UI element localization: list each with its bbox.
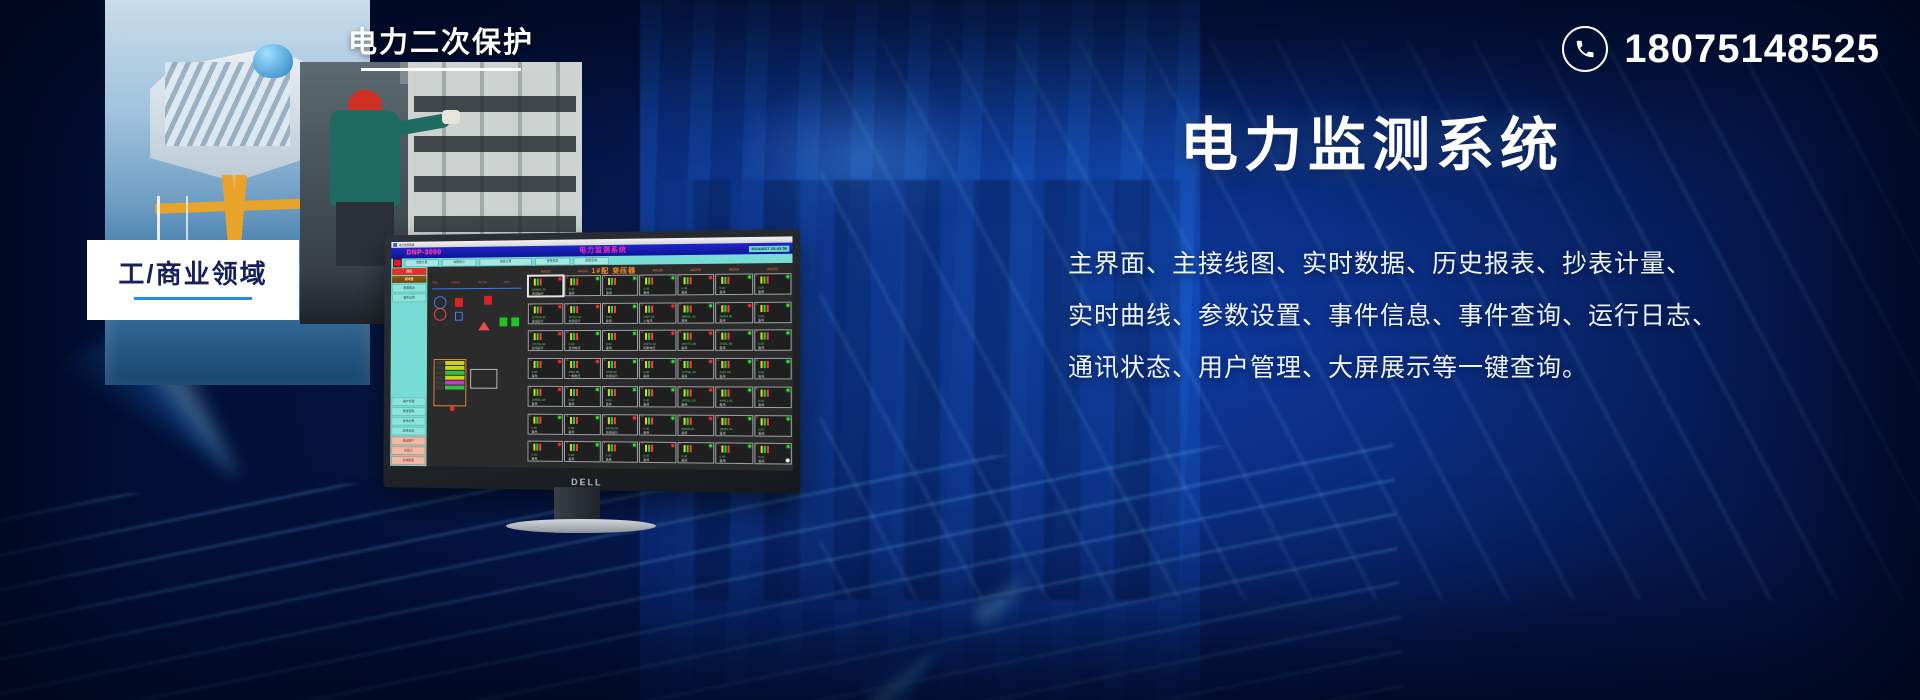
status-led-green	[786, 303, 789, 306]
feeder-cell-status: 备用	[681, 403, 687, 406]
status-led-green	[596, 277, 599, 280]
status-led-green	[671, 416, 674, 419]
sidebar-item-high-voltage[interactable]: 高压	[392, 268, 426, 275]
feeder-cell-status: 小电流	[643, 319, 652, 322]
feeder-cell-index: 4	[530, 359, 532, 362]
col-tag: AA104	[602, 270, 638, 274]
status-led-red	[709, 276, 712, 279]
alarm-indicator	[450, 406, 455, 411]
feeder-cell-status: 备用	[758, 319, 764, 322]
feeder-cell[interactable]: 22907.20小电流	[639, 302, 676, 323]
feeder-cell-status: 备用	[681, 291, 687, 294]
feeder-cell-index: 4	[756, 359, 758, 362]
tab-alarm-query[interactable]: 报警查询	[573, 256, 609, 264]
scada-system-title: 电力监测系统	[579, 247, 627, 255]
scada-window-title: 电力监测系统	[399, 243, 414, 246]
status-led-red	[559, 333, 562, 336]
scada-brand: DNP-3000	[406, 249, 441, 256]
panel-value	[445, 381, 464, 385]
feeder-cell-status: 备用	[681, 319, 687, 322]
feeder-cell-index: 4	[567, 359, 569, 362]
feeder-cell-index: 3	[567, 331, 569, 334]
feeder-cell[interactable]: 10.00备用	[715, 273, 752, 295]
col-tag: AA204	[715, 268, 752, 272]
scada-application: 电力监测系统 DNP-3000 电力监测系统 2024/8/27 10:43:5…	[390, 236, 793, 470]
feeder-cell-index: 1	[717, 275, 719, 278]
col-tag: AA102	[528, 270, 564, 274]
status-led-red	[709, 388, 712, 391]
sidebar-item-system-config[interactable]: 系统配置	[391, 456, 425, 465]
description-line-1: 主界面、主接线图、实时数据、历史报表、抄表计量、	[1068, 238, 1848, 290]
stop-button[interactable]	[393, 258, 402, 267]
feeder-cell[interactable]: 218500L.41备用	[677, 302, 714, 323]
sidebar-item-data-report[interactable]: 数据报表	[392, 284, 426, 293]
breaker-open-2[interactable]	[511, 317, 519, 326]
status-led-green	[633, 444, 636, 447]
status-led-green	[786, 332, 789, 335]
phase-bars	[760, 276, 768, 283]
col-tag: AA205	[677, 269, 714, 273]
status-led-red	[709, 332, 712, 335]
feeder-cell-index: 1	[530, 277, 532, 280]
feeder-cell[interactable]: 40.00备用	[754, 358, 792, 380]
sld-tag-tm1: TM1	[432, 282, 438, 285]
feeder-cell[interactable]: 30.00监测电流	[565, 330, 601, 351]
busbar	[432, 288, 521, 290]
feeder-cell[interactable]: 628740.00合闸运行	[602, 414, 639, 435]
status-led-green	[787, 388, 790, 391]
feeder-cell-index: 2	[679, 303, 681, 306]
sidebar-item-comm-status[interactable]: 通讯状态	[391, 427, 425, 436]
badge-power-secondary-protection: 电力二次保护	[300, 14, 582, 86]
breaker-closed-2[interactable]	[484, 296, 492, 305]
feeder-cell-index: 7	[641, 443, 643, 446]
feeder-cell[interactable]: 3271794.41合闸运行	[528, 331, 564, 352]
sld-tag-aa101: AA101	[451, 281, 460, 284]
feeder-cell-status: 备用	[719, 319, 725, 322]
status-led-green	[748, 445, 751, 448]
status-led-red	[559, 277, 562, 280]
worker-helmet	[348, 90, 382, 112]
feeder-cell[interactable]: 40.00备用	[528, 358, 564, 379]
feeder-cell-status: 备用	[532, 403, 538, 406]
sidebar-item-user-management[interactable]: 用户管理	[391, 397, 425, 406]
phase-bars	[683, 389, 691, 396]
feeder-cell-status: 备用	[643, 459, 649, 462]
feeder-cell[interactable]: 40.00备用	[639, 358, 676, 379]
feeder-cell-status: 备用	[568, 458, 574, 461]
banner-stage: 电力二次保护 工/商业领域 电力监测系统 DNP-3000 电力监测系统	[0, 0, 1920, 700]
feeder-cell-status: 备用	[758, 291, 764, 294]
feeder-cell[interactable]: 2167026.35合闸运行	[528, 303, 564, 324]
feeder-cell-index: 6	[717, 415, 719, 418]
feeder-cell-index: 7	[679, 443, 681, 446]
feeder-cell-status: 一相电压	[569, 375, 581, 378]
phase-bars	[760, 389, 768, 396]
sidebar-item-logout[interactable]: 退出账户	[391, 436, 425, 445]
status-led-green	[787, 417, 790, 420]
feeder-cell-index: 6	[679, 415, 681, 418]
feeder-cell-index: 5	[604, 387, 606, 390]
status-led-red	[559, 360, 562, 363]
phase-bars	[608, 361, 616, 368]
scada-diagram-area: 1#配 变压器 TM1 AA101 AC101 AA1	[426, 263, 793, 471]
feeder-cell-status: 备用	[720, 460, 726, 463]
status-led-green	[748, 388, 751, 391]
feeder-cell-status: 备用	[606, 403, 612, 406]
panel-key	[436, 366, 445, 370]
feeder-cell-status: 合闸运行	[532, 320, 544, 323]
feeder-cell-status: 备用	[606, 347, 612, 350]
feeder-cell[interactable]: 70.00备用	[527, 441, 563, 462]
feeder-cell[interactable]: 30.00备用	[754, 330, 792, 352]
tab-energy-stats[interactable]: 电能统计	[442, 258, 477, 266]
panel-key	[435, 376, 444, 380]
feeder-cell[interactable]: 10.00备用	[754, 273, 792, 295]
panel-value	[445, 366, 464, 370]
feeder-cell[interactable]: 412750L.00备用	[677, 358, 714, 379]
feeder-cell-index: 7	[604, 443, 606, 446]
status-led-red	[671, 304, 674, 307]
feeder-cell-status: 合闸运行	[606, 375, 618, 378]
feeder-cell[interactable]: 162560L.60合闸运行	[528, 275, 564, 296]
scada-sidebar[interactable]: 高压 配电室 数据报表 事件记录 用户管理 修改密码 操作记录 通讯状态 退出账…	[390, 267, 427, 466]
phase-bars	[683, 305, 691, 312]
phase-bars	[760, 305, 768, 312]
feeder-cell-index: 4	[679, 359, 681, 362]
phase-bars	[645, 278, 653, 285]
status-led-red	[596, 305, 599, 308]
feeder-cell-index: 7	[756, 444, 758, 447]
feeder-cell-status: 备用	[643, 403, 649, 406]
feeder-cell-status: 备用	[719, 291, 725, 294]
status-led-green	[633, 304, 636, 307]
feeder-cell[interactable]: 50.00备用	[639, 386, 676, 407]
phase-bars	[533, 416, 541, 423]
feeder-cell-status: 备用	[681, 460, 687, 463]
feeder-cell-index: 5	[530, 387, 532, 390]
panel-key	[436, 361, 445, 365]
feeder-cell-index: 4	[604, 359, 606, 362]
phase-bars	[608, 417, 616, 424]
monitor-power-led	[786, 458, 790, 462]
feeder-cell-status: 备用	[532, 375, 538, 378]
feeder-cell-status: 备用	[569, 292, 575, 295]
panel-row	[436, 371, 465, 375]
feeder-cell-status: 备用	[681, 347, 687, 350]
description-line-3: 通讯状态、用户管理、大屏展示等一键查询。	[1068, 342, 1848, 394]
status-led-green	[709, 445, 712, 448]
phase-bars	[645, 305, 653, 312]
status-led-green	[596, 388, 599, 391]
feeder-cell-index: 3	[604, 331, 606, 334]
panel-row	[435, 381, 464, 385]
status-led-green	[596, 416, 599, 419]
feeder-cell-status: 备用	[719, 375, 725, 378]
feeder-cell-status: 备用	[531, 458, 537, 461]
phase-bars	[534, 334, 542, 341]
feeder-cell-index: 2	[756, 303, 758, 306]
feeder-cell-index: 7	[566, 442, 568, 445]
phase-bars	[760, 333, 768, 340]
status-led-green	[559, 415, 562, 418]
status-led-red	[596, 360, 599, 363]
feeder-cell[interactable]: 10.00备用	[677, 274, 714, 296]
feeder-cell-status: 备用	[568, 403, 574, 406]
feeder-cell[interactable]: 60.00备用	[564, 413, 600, 434]
breaker-closed-1[interactable]	[455, 298, 463, 307]
status-led-green	[748, 276, 751, 279]
feeder-cell[interactable]: 50.00备用	[602, 386, 639, 407]
feeder-cell-index: 3	[756, 331, 758, 334]
feeder-cell-index: 5	[717, 387, 719, 390]
panel-row	[435, 376, 464, 380]
phase-bars	[571, 333, 579, 340]
feeder-cell-index: 5	[756, 387, 758, 390]
status-led-green	[787, 445, 790, 448]
feeder-cell-status: 备用	[643, 375, 649, 378]
feeder-cell-index: 3	[717, 331, 719, 334]
feeder-cell-index: 5	[679, 387, 681, 390]
tab-alarm-type[interactable]: 报警类型	[535, 257, 570, 265]
feeder-cell[interactable]: 514400L.00备用	[528, 386, 564, 407]
status-led-red	[559, 305, 562, 308]
feeder-cell[interactable]: 10.00备用	[602, 275, 638, 296]
status-led-green	[671, 276, 674, 279]
platform-dome	[253, 44, 293, 78]
feeder-cell-index: 4	[641, 359, 643, 362]
feeder-cell-index: 2	[717, 303, 719, 306]
feeder-cell-index: 5	[641, 387, 643, 390]
panel-key	[436, 371, 445, 375]
phase-bars	[645, 361, 653, 368]
feeder-cell[interactable]: 20.00备用	[754, 301, 792, 323]
feeder-cell[interactable]: 216762.20合闸运行	[565, 303, 601, 324]
feeder-cell[interactable]: 544421.41备用	[715, 386, 753, 408]
status-led-red	[709, 416, 712, 419]
feeder-cell-index: 2	[641, 303, 643, 306]
feeder-cell[interactable]: 31947TL.09备用	[677, 330, 714, 351]
measurement-panel	[433, 359, 466, 406]
phase-bars	[571, 278, 579, 285]
feeder-cell[interactable]: 329271.41控制电压	[639, 330, 676, 351]
app-icon	[393, 243, 397, 247]
feeder-cell[interactable]: 42161.60备用	[715, 358, 753, 379]
feeder-cell-index: 1	[567, 276, 569, 279]
panel-key	[435, 381, 444, 385]
feeder-cell[interactable]: 30.00备用	[602, 330, 639, 351]
monitor: 电力监测系统 DNP-3000 电力监测系统 2024/8/27 10:43:5…	[378, 232, 796, 532]
feeder-cell-status: 合闸运行	[606, 431, 618, 434]
phase-bars	[683, 277, 691, 284]
feeder-cell[interactable]: 514201L.00备用	[677, 386, 714, 407]
col-tag: AA105	[639, 269, 676, 273]
panel-value	[445, 371, 464, 375]
feeder-cell[interactable]: 10.00备用	[565, 275, 601, 296]
feeder-cell-status: 备用	[758, 375, 764, 378]
monitor-stand-base	[506, 519, 656, 533]
secondary-measurement-box	[470, 369, 497, 389]
disconnector-1[interactable]	[455, 312, 463, 321]
status-led-red	[558, 443, 561, 446]
status-led-red	[671, 444, 674, 447]
phase-bars	[534, 279, 542, 286]
status-led-red	[559, 388, 562, 391]
feeder-cell-grid: 162560L.60合闸运行10.00备用10.00备用10.00备用10.00…	[527, 273, 791, 471]
status-led-red	[633, 416, 636, 419]
feeder-cell-status: 备用	[758, 460, 764, 463]
phase-bars	[608, 278, 616, 285]
status-led-green	[748, 417, 751, 420]
feeder-cell-index: 6	[566, 414, 568, 417]
status-led-green	[596, 443, 599, 446]
col-tag: AA203	[754, 268, 792, 272]
phase-bars	[683, 417, 691, 424]
scada-clock: 2024/8/27 10:43:56	[749, 245, 789, 252]
feeder-cell-status: 合闸运行	[532, 347, 544, 350]
phone-number: 18075148525	[1624, 27, 1880, 72]
status-led-green	[633, 277, 636, 280]
sld-tag-ac101: AC101	[478, 281, 487, 284]
phase-bars	[608, 445, 616, 452]
phase-bars	[722, 417, 730, 424]
feeder-cell-index: 3	[530, 332, 532, 335]
feeder-cell[interactable]: 50.00备用	[565, 386, 601, 407]
phase-bars	[683, 361, 691, 368]
sidebar-item-operation-log[interactable]: 操作记录	[391, 417, 425, 426]
phase-bars	[683, 333, 691, 340]
panel-value	[445, 386, 464, 390]
feeder-cell-index: 3	[679, 331, 681, 334]
single-line-diagram: TM1 AA101 AC101 AA1	[430, 278, 523, 407]
feeder-cell-status: 备用	[606, 320, 612, 323]
feeder-cell[interactable]: 70.00备用	[715, 443, 753, 465]
feature-description: 主界面、主接线图、实时数据、历史报表、抄表计量、 实时曲线、参数设置、事件信息、…	[1068, 238, 1848, 394]
sidebar-item-distribution-room[interactable]: 配电室	[392, 276, 426, 283]
panel-key	[435, 386, 444, 390]
tab-energy-calc[interactable]: 电能计算	[479, 257, 532, 266]
status-led-red	[671, 332, 674, 335]
feeder-cell-status: 备用	[568, 430, 574, 433]
status-led-green	[633, 332, 636, 335]
feeder-cell-index: 3	[641, 331, 643, 334]
status-led-green	[633, 360, 636, 363]
breaker-open-1[interactable]	[500, 317, 508, 326]
feeder-cell-index: 1	[679, 275, 681, 278]
tab-energy-meter[interactable]: 电能计量	[405, 259, 439, 267]
phase-bars	[534, 306, 542, 313]
feeder-cell[interactable]: 20.00备用	[602, 302, 639, 323]
feeder-cell-index: 1	[756, 274, 758, 277]
feeder-cell-index: 1	[604, 276, 606, 279]
phone-circle-icon	[1562, 26, 1608, 72]
feeder-cell-status: 备用	[606, 292, 612, 295]
panel-row	[436, 366, 465, 370]
feeder-cell-status: 备用	[531, 430, 537, 433]
phase-bars	[721, 305, 729, 312]
sidebar-item-event-log[interactable]: 事件记录	[392, 293, 426, 302]
feeder-cell[interactable]: 31730L.80备用	[715, 330, 752, 351]
badge-top-label: 电力二次保护	[348, 29, 534, 58]
phase-bars	[722, 389, 730, 396]
status-led-green	[671, 360, 674, 363]
status-led-green	[596, 332, 599, 335]
feeder-cell-index: 4	[717, 359, 719, 362]
feeder-cell-index: 2	[530, 304, 532, 307]
feeder-cell-status: 合闸运行	[569, 320, 581, 323]
feeder-cell[interactable]: 70.00备用	[564, 441, 600, 462]
feeder-cell[interactable]: 60.00备用	[528, 413, 564, 434]
feeder-cell-status: 合闸运行	[532, 292, 544, 295]
status-led-green	[786, 360, 789, 363]
phase-bars	[533, 444, 541, 451]
phase-bars	[760, 446, 768, 453]
status-led-green	[671, 388, 674, 391]
status-led-red	[709, 360, 712, 363]
feeder-cell-index: 7	[529, 442, 531, 445]
feeder-cell[interactable]: 42554.80一相电压	[565, 358, 601, 379]
status-led-green	[709, 304, 712, 307]
phase-bars	[570, 444, 578, 451]
feeder-cell[interactable]: 10.00备用	[639, 274, 676, 295]
transformer-delta-symbol	[478, 321, 490, 330]
panel-row	[436, 361, 465, 365]
badge-bottom-label: 工/商业领域	[118, 261, 267, 287]
page-title: 电力监测系统	[1180, 98, 1564, 182]
contact-phone[interactable]: 18075148525	[1562, 26, 1880, 72]
feeder-cell[interactable]: 621900.00备用	[677, 414, 714, 436]
phase-bars	[534, 361, 542, 368]
panel-value	[445, 361, 464, 365]
feeder-cell-status: 备用	[758, 432, 764, 435]
panel-row	[435, 386, 464, 390]
phase-bars	[608, 333, 616, 340]
status-led-green	[748, 332, 751, 335]
feeder-cell[interactable]: 70.00备用	[639, 442, 676, 464]
sidebar-item-change-password[interactable]: 修改密码	[391, 407, 425, 416]
phase-bars	[608, 306, 616, 313]
feeder-cell-index: 6	[641, 415, 643, 418]
feeder-cell-index: 1	[641, 276, 643, 279]
phase-bars	[570, 417, 578, 424]
feeder-cell-status: 备用	[719, 432, 725, 435]
feeder-cell[interactable]: 60.00备用	[639, 414, 676, 435]
feeder-cell[interactable]: 616055.40备用	[715, 414, 753, 436]
feeder-cell[interactable]: 44708.00合闸运行	[602, 358, 639, 379]
status-led-green	[748, 360, 751, 363]
status-led-red	[748, 304, 751, 307]
phase-bars	[534, 389, 542, 396]
feeder-cell[interactable]: 60.00备用	[754, 415, 792, 437]
feeder-cell-status: 备用	[681, 431, 687, 434]
worker-hand	[442, 110, 460, 124]
badge-top-underline	[361, 68, 521, 71]
transformer-winding-d	[434, 308, 447, 321]
feeder-cell[interactable]: 50.00备用	[754, 386, 792, 408]
feeder-cell-index: 6	[756, 416, 758, 419]
feeder-cell[interactable]: 220904.06备用	[715, 302, 752, 324]
phase-bars	[645, 445, 653, 452]
feeder-cell[interactable]: 70.00备用	[677, 442, 714, 464]
feeder-cell-status: 备用	[681, 375, 687, 378]
feeder-cell-status: 备用	[758, 404, 764, 407]
feeder-cell-status: 备用	[758, 347, 764, 350]
phase-bars	[571, 306, 579, 313]
sidebar-item-close-window[interactable]: 关窗口	[391, 446, 425, 455]
feeder-cell[interactable]: 70.00备用	[602, 442, 639, 464]
feeder-cell-status: 备用	[606, 459, 612, 462]
phase-bars	[722, 446, 730, 453]
